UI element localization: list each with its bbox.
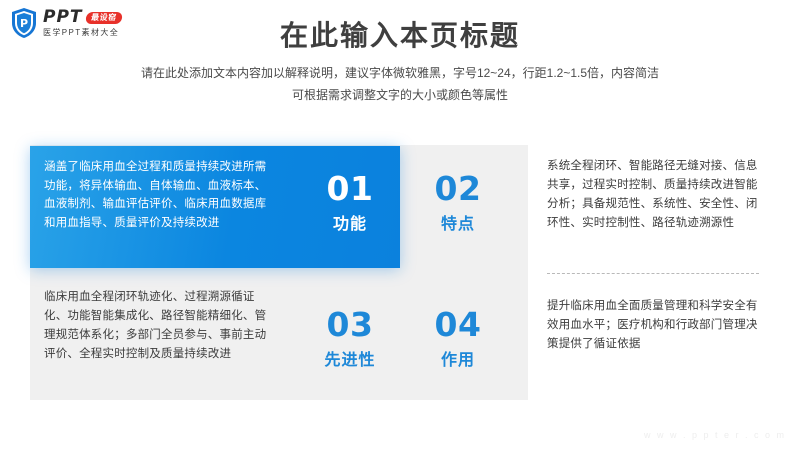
card-03-body: 临床用血全程闭环轨迹化、过程溯源循证化、功能智能集成化、路径智能精细化、管理规范… <box>44 288 274 364</box>
number-block-04[interactable]: 04 作用 <box>408 308 508 370</box>
number-02: 02 <box>408 172 508 207</box>
number-block-01[interactable]: 01 功能 <box>300 172 400 234</box>
number-03: 03 <box>300 308 400 343</box>
page-subtitle: 请在此处添加文本内容加以解释说明，建议字体微软雅黑，字号12~24，行距1.2~… <box>0 62 800 106</box>
number-block-03[interactable]: 03 先进性 <box>300 308 400 370</box>
label-02: 特点 <box>408 210 508 234</box>
subtitle-line-2: 可根据需求调整文字的大小或颜色等属性 <box>0 84 800 106</box>
label-01: 功能 <box>300 210 400 234</box>
card-04-body: 提升临床用血全面质量管理和科学安全有效用血水平；医疗机构和行政部门管理决策提供了… <box>547 297 765 354</box>
card-02-body: 系统全程闭环、智能路径无缝对接、信息共享，过程实时控制、质量持续改进智能分析；具… <box>547 157 765 233</box>
number-block-02[interactable]: 02 特点 <box>408 172 508 234</box>
number-04: 04 <box>408 308 508 343</box>
page-title: 在此输入本页标题 <box>0 14 800 54</box>
label-03: 先进性 <box>300 346 400 370</box>
label-04: 作用 <box>408 346 508 370</box>
section-divider <box>547 273 759 274</box>
number-01: 01 <box>300 172 400 207</box>
card-01-body: 涵盖了临床用血全过程和质量持续改进所需功能，将异体输血、自体输血、血液标本、血液… <box>44 158 276 233</box>
site-watermark: w w w . p p t e r . c o m <box>644 430 786 440</box>
subtitle-line-1: 请在此处添加文本内容加以解释说明，建议字体微软雅黑，字号12~24，行距1.2~… <box>0 62 800 84</box>
